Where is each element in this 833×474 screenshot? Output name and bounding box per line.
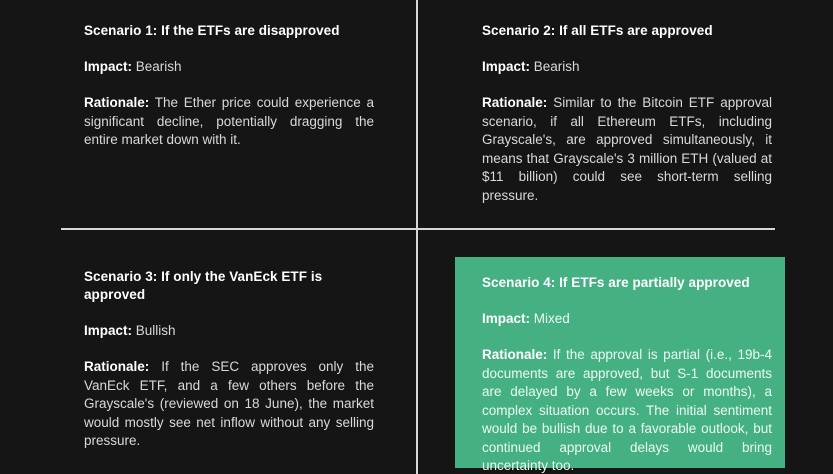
scenario-3-impact: Impact: Bullish bbox=[84, 322, 374, 340]
scenario-1-rationale: Rationale: The Ether price could experie… bbox=[84, 94, 374, 150]
scenario-3-impact-label: Impact: bbox=[84, 323, 132, 338]
scenario-3-rationale: Rationale: If the SEC approves only the … bbox=[84, 358, 374, 451]
scenario-4-rationale: Rationale: If the approval is partial (i… bbox=[482, 346, 772, 474]
scenario-card-2: Scenario 2: If all ETFs are approved Imp… bbox=[482, 22, 772, 205]
scenario-2-impact-value: Bearish bbox=[534, 59, 580, 74]
scenario-4-impact-value: Mixed bbox=[534, 311, 570, 326]
scenario-3-impact-value: Bullish bbox=[136, 323, 176, 338]
scenario-4-rationale-label: Rationale: bbox=[482, 347, 547, 362]
scenario-1-impact-value: Bearish bbox=[136, 59, 182, 74]
scenario-1-heading: Scenario 1: If the ETFs are disapproved bbox=[84, 22, 374, 40]
scenario-2-heading: Scenario 2: If all ETFs are approved bbox=[482, 22, 772, 40]
scenario-2-impact: Impact: Bearish bbox=[482, 58, 772, 76]
scenario-4-rationale-text: If the approval is partial (i.e., 19b-4 … bbox=[482, 347, 772, 473]
scenario-card-3: Scenario 3: If only the VanEck ETF is ap… bbox=[84, 268, 374, 451]
scenario-4-impact: Impact: Mixed bbox=[482, 310, 772, 328]
horizontal-divider bbox=[61, 228, 775, 230]
scenario-2-rationale: Rationale: Similar to the Bitcoin ETF ap… bbox=[482, 94, 772, 205]
scenario-matrix: Scenario 1: If the ETFs are disapproved … bbox=[0, 0, 833, 474]
scenario-1-rationale-label: Rationale: bbox=[84, 95, 149, 110]
scenario-3-heading: Scenario 3: If only the VanEck ETF is ap… bbox=[84, 268, 374, 304]
scenario-card-1: Scenario 1: If the ETFs are disapproved … bbox=[84, 22, 374, 150]
scenario-card-4: Scenario 4: If ETFs are partially approv… bbox=[482, 274, 772, 474]
vertical-divider bbox=[416, 0, 418, 474]
scenario-4-impact-label: Impact: bbox=[482, 311, 530, 326]
scenario-1-impact-label: Impact: bbox=[84, 59, 132, 74]
scenario-2-impact-label: Impact: bbox=[482, 59, 530, 74]
scenario-2-rationale-text: Similar to the Bitcoin ETF approval scen… bbox=[482, 95, 772, 203]
scenario-card-4-highlight-panel: Scenario 4: If ETFs are partially approv… bbox=[455, 257, 785, 468]
scenario-4-heading: Scenario 4: If ETFs are partially approv… bbox=[482, 274, 772, 292]
scenario-2-rationale-label: Rationale: bbox=[482, 95, 547, 110]
scenario-3-rationale-label: Rationale: bbox=[84, 359, 149, 374]
scenario-1-impact: Impact: Bearish bbox=[84, 58, 374, 76]
